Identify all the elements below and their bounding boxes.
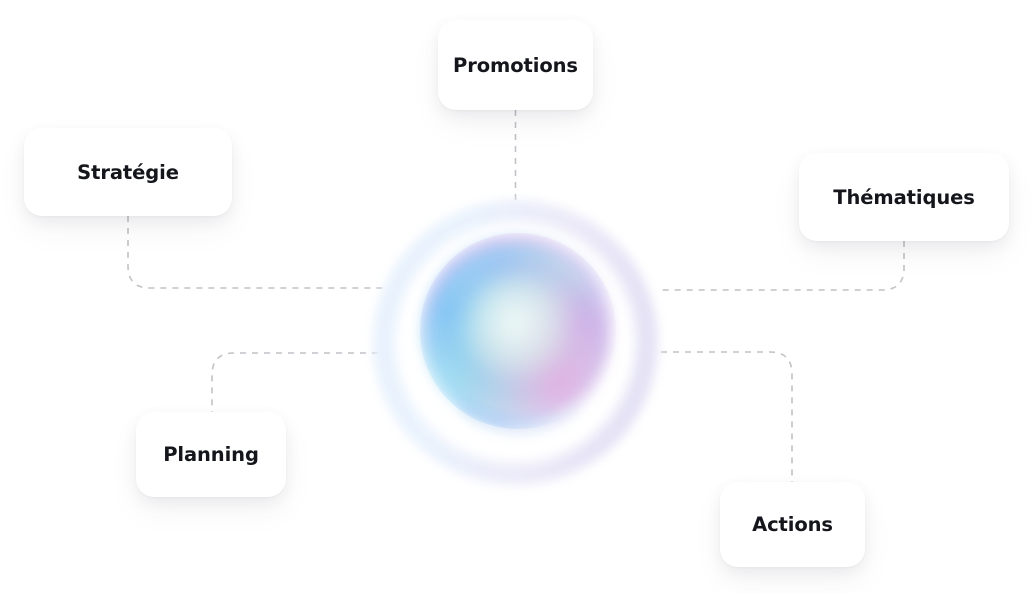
connector-actions	[661, 352, 792, 482]
node-card-actions[interactable]: Actions	[720, 482, 865, 567]
connector-thematiques	[660, 241, 904, 290]
connector-planning	[212, 353, 390, 412]
node-card-thematiques[interactable]: Thématiques	[799, 153, 1009, 241]
node-label-planning: Planning	[163, 443, 259, 466]
node-card-planning[interactable]: Planning	[136, 412, 286, 497]
node-label-actions: Actions	[752, 513, 833, 536]
node-card-promotions[interactable]: Promotions	[438, 20, 593, 110]
node-card-strategie[interactable]: Stratégie	[24, 128, 232, 216]
connector-strategie	[128, 216, 388, 288]
node-label-strategie: Stratégie	[77, 161, 179, 184]
node-label-thematiques: Thématiques	[833, 186, 974, 209]
diagram-canvas: Promotions Stratégie Thématiques Plannin…	[0, 0, 1032, 593]
node-label-promotions: Promotions	[453, 54, 578, 77]
